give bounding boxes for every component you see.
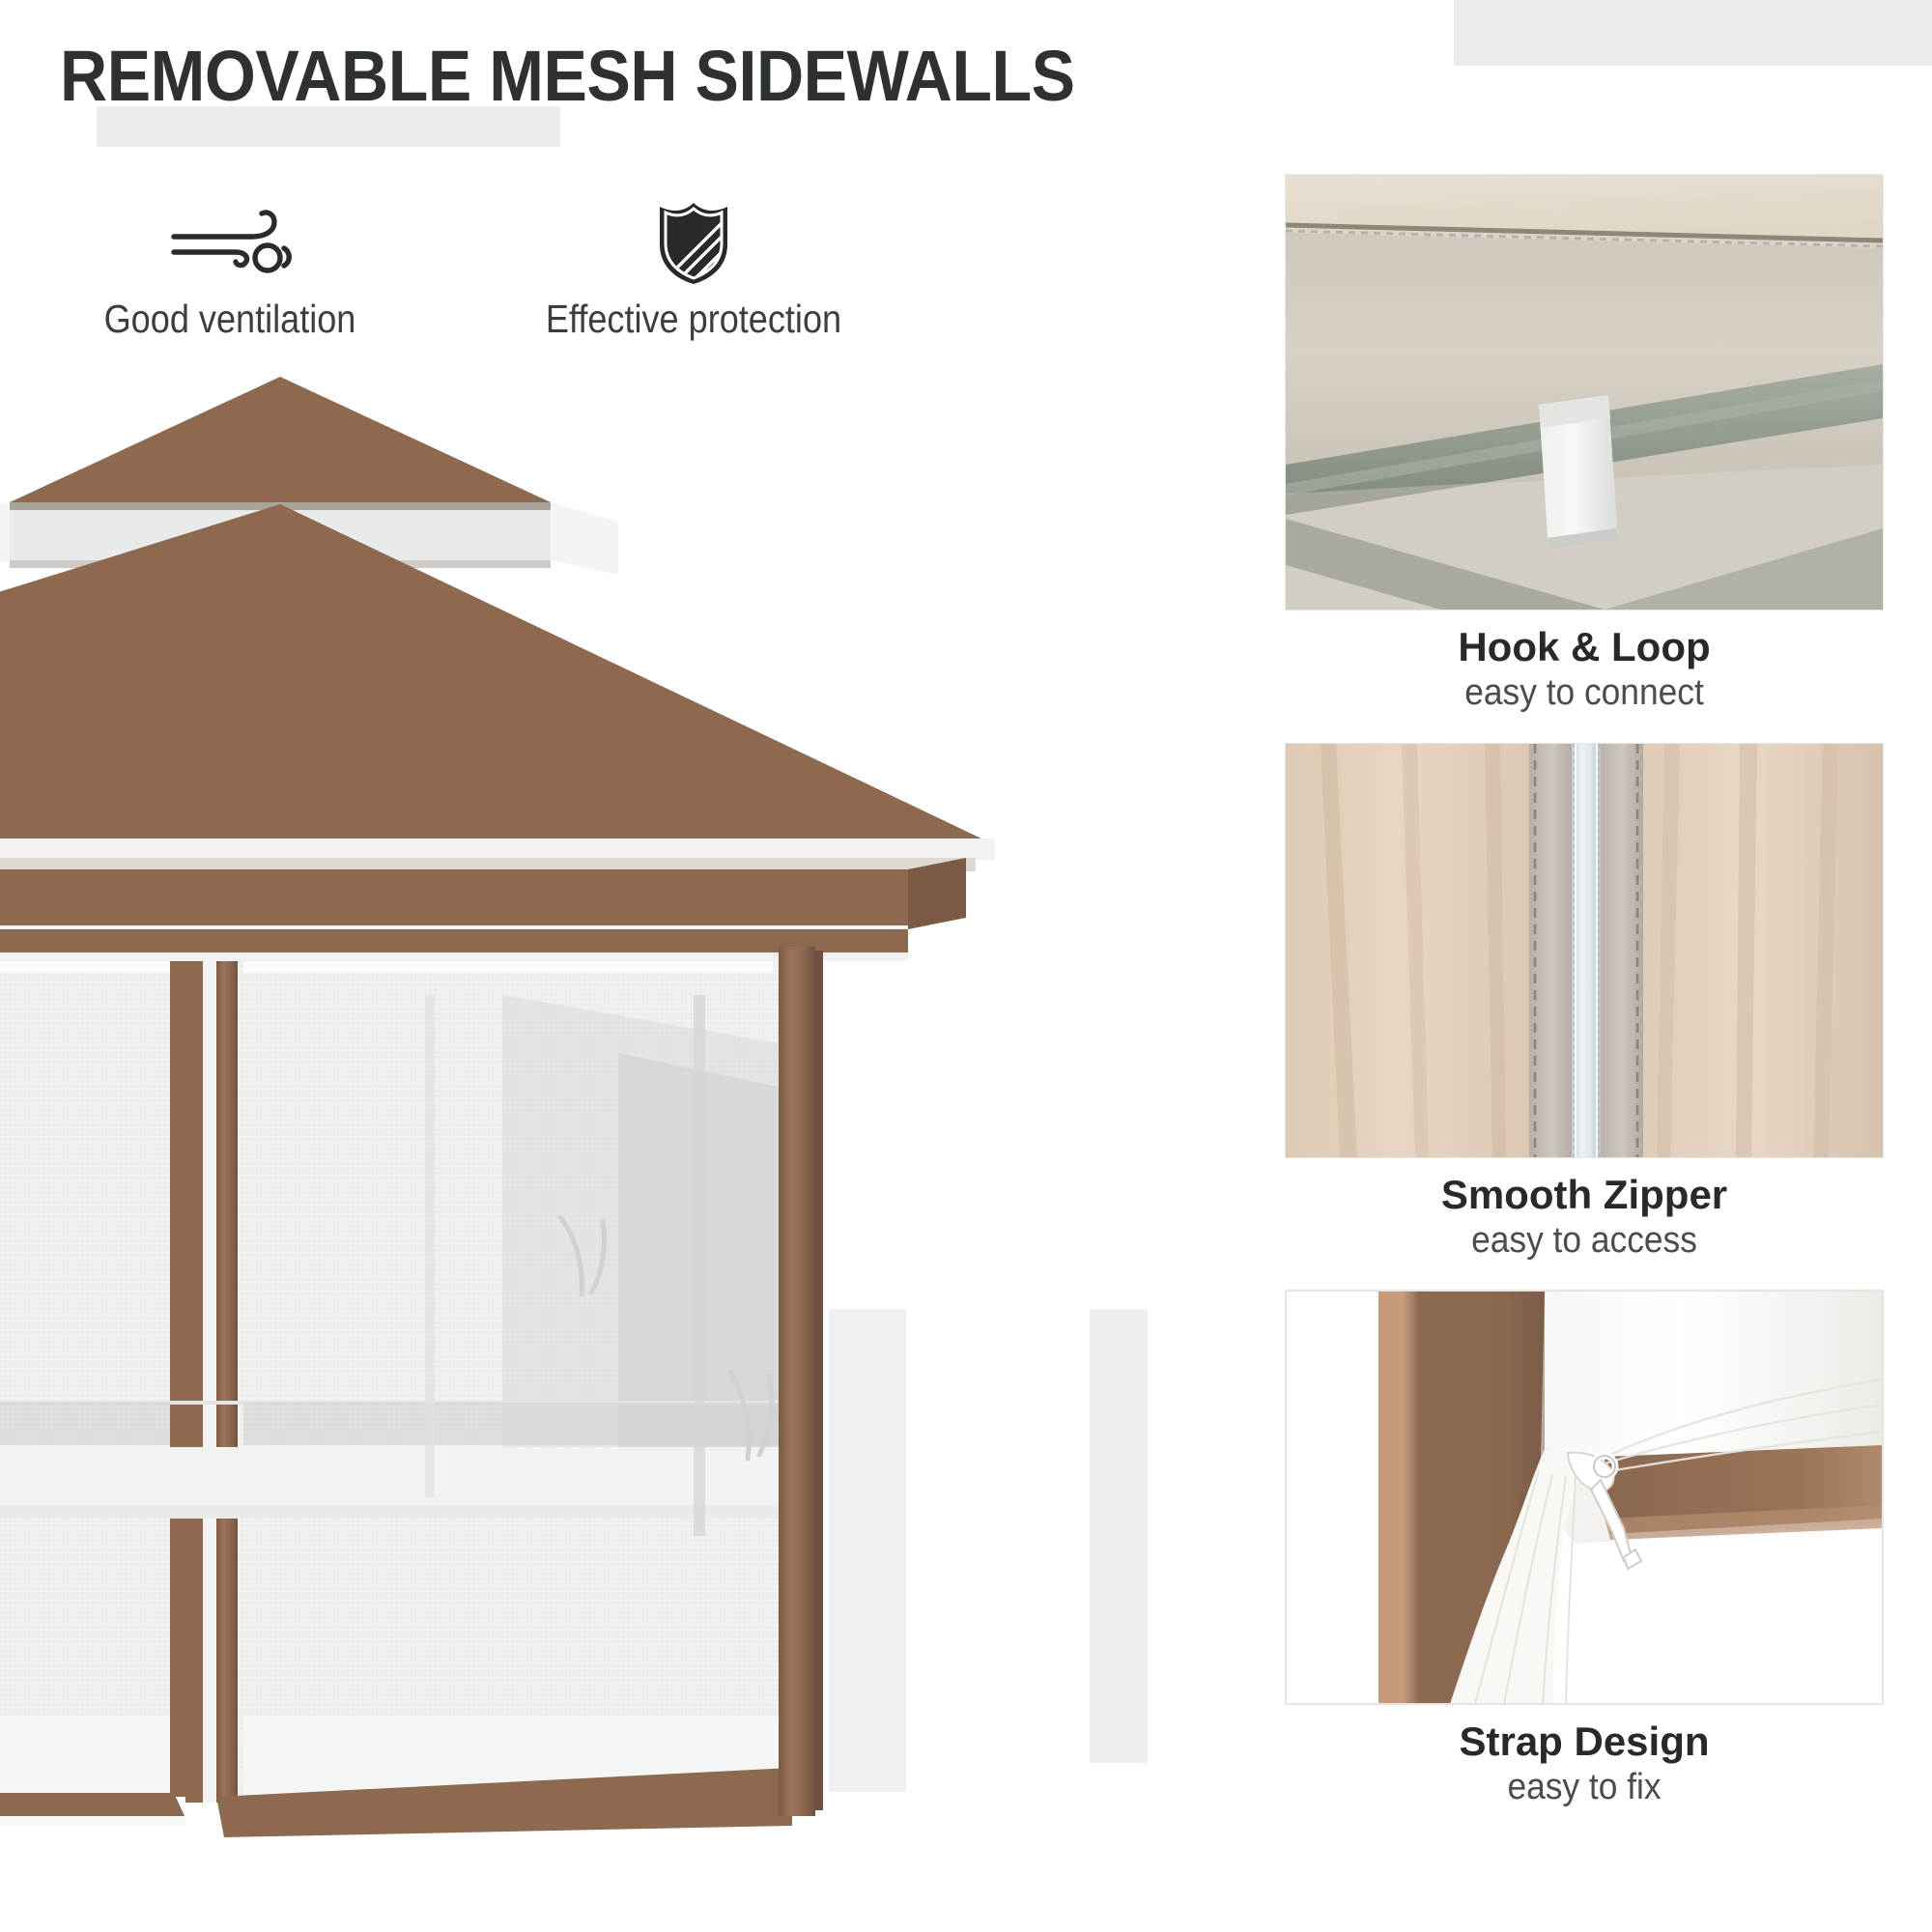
smooth-zipper-photo	[1285, 743, 1884, 1158]
detail-title: Smooth Zipper	[1285, 1172, 1884, 1217]
infographic-canvas: REMOVABLE MESH SIDEWALLS Good ventilatio…	[0, 0, 1932, 1932]
detail-photo-column: Hook & Loop easy to connect	[1285, 174, 1884, 1837]
detail-subtitle: easy to connect	[1306, 671, 1863, 716]
decorative-block-behind-gazebo	[1090, 1309, 1148, 1763]
strap-design-photo	[1285, 1290, 1884, 1705]
gazebo-illustration	[0, 377, 1024, 1884]
detail-caption: Smooth Zipper easy to access	[1285, 1158, 1884, 1264]
detail-title: Hook & Loop	[1285, 624, 1884, 669]
wind-icon	[46, 198, 413, 287]
detail-title: Strap Design	[1285, 1719, 1884, 1764]
detail-card-strap-design: Strap Design easy to fix	[1285, 1290, 1884, 1810]
detail-subtitle: easy to fix	[1306, 1766, 1863, 1810]
feature-label: Good ventilation	[69, 297, 391, 342]
feature-label: Effective protection	[532, 297, 855, 342]
detail-caption: Hook & Loop easy to connect	[1285, 611, 1884, 716]
detail-subtitle: easy to access	[1306, 1219, 1863, 1264]
feature-good-ventilation: Good ventilation	[46, 198, 413, 342]
feature-effective-protection: Effective protection	[510, 198, 877, 342]
decorative-block-top-right	[1454, 0, 1932, 66]
detail-card-hook-and-loop: Hook & Loop easy to connect	[1285, 174, 1884, 716]
detail-card-smooth-zipper: Smooth Zipper easy to access	[1285, 743, 1884, 1264]
page-title: REMOVABLE MESH SIDEWALLS	[60, 35, 1075, 117]
hook-and-loop-photo	[1285, 174, 1884, 611]
shield-icon	[510, 198, 877, 287]
detail-caption: Strap Design easy to fix	[1285, 1705, 1884, 1810]
